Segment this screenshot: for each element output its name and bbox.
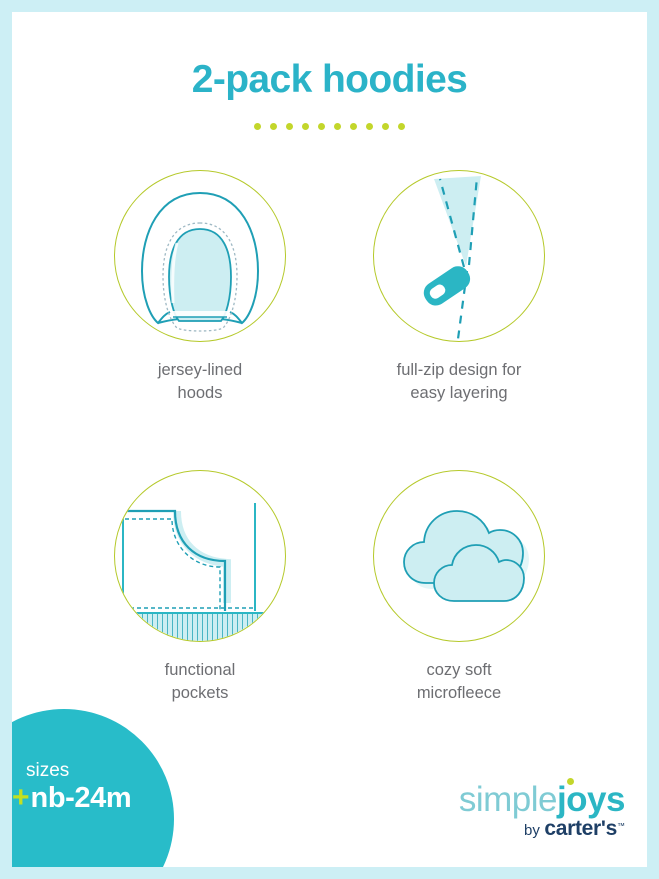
logo-byline: by carter's™ bbox=[459, 817, 625, 841]
sizes-range: + nb-24m bbox=[12, 781, 162, 815]
logo-wordmark: simplejoys bbox=[459, 782, 625, 818]
divider-dot bbox=[254, 123, 261, 130]
caption-line-2: hoods bbox=[80, 382, 320, 405]
sizes-label: sizes bbox=[26, 761, 162, 781]
pocket-icon bbox=[114, 470, 286, 642]
plus-icon: + bbox=[12, 781, 30, 815]
feature-item-hood: jersey-lined hoods bbox=[80, 170, 320, 405]
feature-item-cloud: cozy soft microfleece bbox=[339, 470, 579, 705]
zipper-icon bbox=[373, 170, 545, 342]
logo-by-text: by bbox=[524, 822, 540, 839]
hood-icon bbox=[114, 170, 286, 342]
divider-dot bbox=[350, 123, 357, 130]
divider-dot bbox=[366, 123, 373, 130]
logo-joys-label: joys bbox=[557, 780, 625, 819]
feature-caption: jersey-lined hoods bbox=[80, 359, 320, 405]
cloud-icon bbox=[373, 470, 545, 642]
sizes-badge-content: sizes + nb-24m bbox=[12, 761, 162, 815]
caption-line-1: cozy soft bbox=[339, 659, 579, 682]
product-feature-card: 2-pack hoodies bbox=[12, 12, 647, 867]
caption-line-1: functional bbox=[80, 659, 320, 682]
sizes-value: nb-24m bbox=[31, 781, 132, 815]
logo-dot-icon bbox=[567, 778, 574, 785]
feature-caption: functional pockets bbox=[80, 659, 320, 705]
divider-dot bbox=[398, 123, 405, 130]
caption-line-1: full-zip design for bbox=[339, 359, 579, 382]
divider-dot bbox=[382, 123, 389, 130]
feature-caption: full-zip design for easy layering bbox=[339, 359, 579, 405]
trademark-icon: ™ bbox=[617, 822, 625, 831]
feature-item-pocket: functional pockets bbox=[80, 470, 320, 705]
logo-simple-text: simple bbox=[459, 780, 557, 819]
dotted-divider bbox=[12, 123, 647, 130]
divider-dot bbox=[286, 123, 293, 130]
logo-joys-text: joys bbox=[557, 780, 625, 819]
caption-line-2: easy layering bbox=[339, 382, 579, 405]
caption-line-2: microfleece bbox=[339, 682, 579, 705]
caption-line-1: jersey-lined bbox=[80, 359, 320, 382]
feature-item-zipper: full-zip design for easy layering bbox=[339, 170, 579, 405]
divider-dot bbox=[318, 123, 325, 130]
feature-caption: cozy soft microfleece bbox=[339, 659, 579, 705]
divider-dot bbox=[334, 123, 341, 130]
sizes-badge: sizes + nb-24m bbox=[12, 709, 174, 867]
brand-logo: simplejoys by carter's™ bbox=[459, 782, 625, 841]
divider-dot bbox=[270, 123, 277, 130]
caption-line-2: pockets bbox=[80, 682, 320, 705]
divider-dot bbox=[302, 123, 309, 130]
logo-carters-text: carter's bbox=[544, 817, 617, 840]
page-title: 2-pack hoodies bbox=[12, 58, 647, 102]
